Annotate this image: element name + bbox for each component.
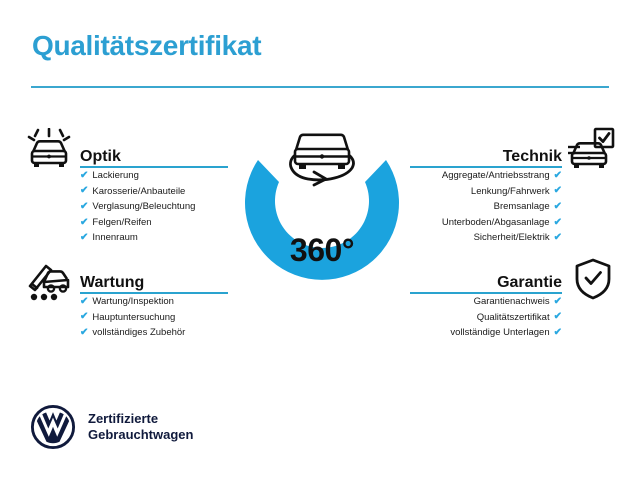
list-item-label: Unterboden/Abgasanlage (442, 215, 550, 231)
list-item-label: Verglasung/Beleuchtung (92, 199, 195, 215)
car-polish-icon (26, 128, 72, 175)
list-item-label: vollständige Unterlagen (450, 325, 549, 341)
check-icon: ✔ (554, 202, 562, 212)
list-item: ✔vollständiges Zubehör (80, 325, 228, 341)
checklist-technik: Aggregate/Antriebsstrang✔ Lenkung/Fahrwe… (410, 168, 562, 246)
certificate-page: Qualitätszertifikat Optik ✔Lackierung (0, 0, 640, 480)
check-icon: ✔ (80, 171, 88, 181)
list-item: Garantienachweis✔ (410, 294, 562, 310)
list-item-label: Qualitätszertifikat (477, 310, 550, 326)
check-icon: ✔ (80, 312, 88, 322)
section-header-optik: Optik (80, 142, 228, 168)
section-optik: Optik ✔Lackierung ✔Karosserie/Anbauteile… (80, 142, 228, 246)
list-item: Lenkung/Fahrwerk✔ (410, 184, 562, 200)
section-technik: Technik Aggregate/Antriebsstrang✔ Lenkun… (410, 142, 562, 246)
list-item-label: Lenkung/Fahrwerk (471, 184, 550, 200)
shield-check-icon (572, 257, 614, 306)
list-item-label: Garantienachweis (474, 294, 550, 310)
badge-360-gebrauchtwagen-check: Gebrauchtwagen-Check 360° (228, 120, 416, 312)
list-item: vollständige Unterlagen✔ (410, 325, 562, 341)
list-item: Sicherheit/Elektrik✔ (410, 230, 562, 246)
vw-logo-icon (30, 404, 76, 450)
check-icon: ✔ (80, 233, 88, 243)
list-item: ✔Innenraum (80, 230, 228, 246)
list-item: Bremsanlage✔ (410, 199, 562, 215)
checklist-wartung: ✔Wartung/Inspektion ✔Hauptuntersuchung ✔… (80, 294, 228, 341)
list-item: Unterboden/Abgasanlage✔ (410, 215, 562, 231)
list-item: ✔Wartung/Inspektion (80, 294, 228, 310)
checklist-garantie: Garantienachweis✔ Qualitätszertifikat✔ v… (410, 294, 562, 341)
checklist-optik: ✔Lackierung ✔Karosserie/Anbauteile ✔Verg… (80, 168, 228, 246)
list-item-label: Karosserie/Anbauteile (92, 184, 185, 200)
section-garantie: Garantie Garantienachweis✔ Qualitätszert… (410, 268, 562, 341)
footer-line-1: Zertifizierte (88, 411, 193, 427)
car-service-wrench-icon (24, 258, 72, 307)
list-item-label: Innenraum (92, 230, 137, 246)
list-item-label: Hauptuntersuchung (92, 310, 175, 326)
check-icon: ✔ (80, 202, 88, 212)
section-wartung: Wartung ✔Wartung/Inspektion ✔Hauptunters… (80, 268, 228, 341)
section-divider (80, 292, 228, 294)
list-item: Aggregate/Antriebsstrang✔ (410, 168, 562, 184)
list-item: ✔Lackierung (80, 168, 228, 184)
check-icon: ✔ (554, 328, 562, 338)
footer-logo-text: Zertifizierte Gebrauchtwagen (88, 411, 193, 443)
check-icon: ✔ (554, 312, 562, 322)
list-item-label: Sicherheit/Elektrik (474, 230, 550, 246)
list-item-label: vollständiges Zubehör (92, 325, 185, 341)
check-icon: ✔ (554, 171, 562, 181)
list-item: ✔Verglasung/Beleuchtung (80, 199, 228, 215)
list-item: ✔Felgen/Reifen (80, 215, 228, 231)
section-divider (410, 292, 562, 294)
section-header-garantie: Garantie (410, 268, 562, 294)
list-item-label: Lackierung (92, 168, 138, 184)
title-divider (31, 86, 609, 88)
badge-center-label: 360° (228, 232, 416, 269)
section-title: Wartung (80, 274, 144, 292)
check-icon: ✔ (554, 218, 562, 228)
check-icon: ✔ (80, 218, 88, 228)
car-checkbox-icon (568, 126, 616, 175)
section-divider (410, 166, 562, 168)
section-title: Optik (80, 148, 121, 166)
list-item: Qualitätszertifikat✔ (410, 310, 562, 326)
list-item: ✔Hauptuntersuchung (80, 310, 228, 326)
list-item-label: Felgen/Reifen (92, 215, 151, 231)
footer-line-2: Gebrauchtwagen (88, 427, 193, 443)
check-icon: ✔ (554, 233, 562, 243)
check-icon: ✔ (80, 328, 88, 338)
check-icon: ✔ (80, 186, 88, 196)
check-icon: ✔ (554, 297, 562, 307)
list-item-label: Bremsanlage (494, 199, 550, 215)
page-title: Qualitätszertifikat (32, 30, 261, 62)
check-icon: ✔ (554, 186, 562, 196)
section-header-technik: Technik (410, 142, 562, 168)
check-icon: ✔ (80, 297, 88, 307)
section-divider (80, 166, 228, 168)
list-item: ✔Karosserie/Anbauteile (80, 184, 228, 200)
section-header-wartung: Wartung (80, 268, 228, 294)
section-title: Technik (503, 148, 562, 166)
list-item-label: Aggregate/Antriebsstrang (442, 168, 550, 184)
section-title: Garantie (497, 274, 562, 292)
footer-logo-block: Zertifizierte Gebrauchtwagen (30, 404, 193, 450)
list-item-label: Wartung/Inspektion (92, 294, 174, 310)
